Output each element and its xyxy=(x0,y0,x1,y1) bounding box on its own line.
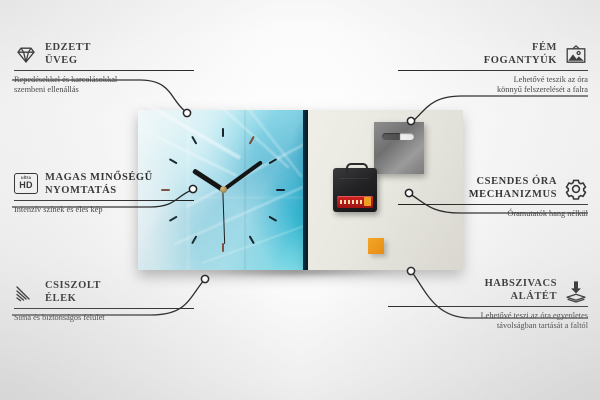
feature-metal-handles: FÉM FOGANTYÚK Lehetővé teszik az óra kön… xyxy=(398,42,588,95)
aa-battery xyxy=(337,196,373,208)
feature-subtitle-line2: távolságban tartását a faltól xyxy=(388,321,588,331)
feature-title-line2: ÜVEG xyxy=(45,55,91,68)
hour-tick xyxy=(222,243,224,252)
feature-subtitle-line2: szembeni ellenállás xyxy=(14,85,194,95)
polished-edges-icon xyxy=(14,281,38,305)
divider xyxy=(388,306,588,307)
feature-title-line1: FÉM xyxy=(484,42,557,55)
feature-title-line1: CSISZOLT xyxy=(45,280,101,293)
ultra-hd-icon: ultra HD xyxy=(14,173,38,197)
mechanism-detail xyxy=(339,178,369,192)
feature-title-line2: MECHANIZMUS xyxy=(469,189,557,202)
ultra-hd-icon-large-text: HD xyxy=(19,181,32,190)
feature-title-line1: EDZETT xyxy=(45,42,91,55)
clock-center-cap xyxy=(220,186,227,193)
divider xyxy=(14,308,194,309)
feature-title-line1: MAGAS MINŐSÉGŰ xyxy=(45,172,153,185)
feature-subtitle-line1: Repedésekkel és karcolásokkal xyxy=(14,75,194,85)
divider xyxy=(398,204,588,205)
feature-subtitle-line1: Lehetővé teszik az óra xyxy=(398,75,588,85)
feature-foam-backing: HABSZIVACS ALÁTÉT Lehetővé teszi az óra … xyxy=(388,278,588,331)
hanging-frame-icon xyxy=(564,43,588,67)
mechanism-handle xyxy=(346,163,368,173)
foam-layers-arrow-icon xyxy=(564,279,588,303)
feature-subtitle-line2: könnyű felszerelését a falra xyxy=(398,85,588,95)
feature-title-line2: ALÁTÉT xyxy=(485,291,557,304)
diamond-icon xyxy=(14,43,38,67)
feature-subtitle-line1: Lehetővé teszi az óra egyenletes xyxy=(388,311,588,321)
metal-hanger-plate xyxy=(374,122,424,174)
hour-tick xyxy=(276,189,285,191)
feature-title-line1: CSENDES ÓRA xyxy=(469,176,557,189)
feature-title-line1: HABSZIVACS xyxy=(485,278,557,291)
feature-title-line2: NYOMTATÁS xyxy=(45,185,153,198)
feature-title-line2: ÉLEK xyxy=(45,293,101,306)
divider xyxy=(398,70,588,71)
foam-spacer-pad xyxy=(368,238,384,254)
gear-icon xyxy=(564,177,588,201)
hanger-slot xyxy=(382,133,414,140)
hour-tick xyxy=(222,128,224,137)
feature-title-line2: FOGANTYÚK xyxy=(484,55,557,68)
battery-label xyxy=(340,200,362,204)
feature-high-quality-print: ultra HD MAGAS MINŐSÉGŰ NYOMTATÁS Intenz… xyxy=(14,172,194,215)
feature-subtitle-line1: Intenzív színek és éles kép xyxy=(14,205,194,215)
feature-subtitle-line1: Sima és biztonságos felület xyxy=(14,313,194,323)
divider xyxy=(14,70,194,71)
feature-tempered-glass: EDZETT ÜVEG Repedésekkel és karcolásokka… xyxy=(14,42,194,95)
divider xyxy=(14,200,194,201)
feature-silent-mechanism: CSENDES ÓRA MECHANIZMUS Óramutatók hang … xyxy=(398,176,588,219)
feature-subtitle-line1: Óramutatók hang nélkül xyxy=(398,209,588,219)
feature-polished-edges: CSISZOLT ÉLEK Sima és biztonságos felüle… xyxy=(14,280,194,323)
quartz-mechanism xyxy=(333,168,377,212)
infographic-canvas: EDZETT ÜVEG Repedésekkel és karcolásokka… xyxy=(0,0,600,400)
